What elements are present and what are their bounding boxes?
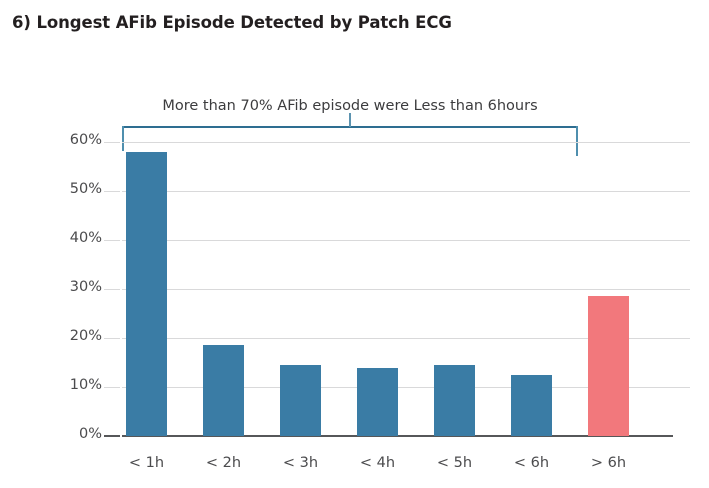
bar-6h[interactable] xyxy=(511,375,552,436)
bar-2h[interactable] xyxy=(203,345,244,436)
y-axis-tick-label: 10% xyxy=(46,377,102,393)
gridline xyxy=(122,240,690,241)
y-axis-tick-label: 0% xyxy=(46,426,102,442)
bracket-left-arm xyxy=(122,126,124,151)
y-axis-tick-label: 20% xyxy=(46,328,102,344)
y-axis-tick xyxy=(104,338,120,339)
bracket-center-tick xyxy=(349,113,351,127)
gridline xyxy=(122,191,690,192)
bar-6h[interactable] xyxy=(588,296,629,436)
annotation-label: More than 70% AFib episode were Less tha… xyxy=(122,98,578,114)
y-axis-tick xyxy=(104,435,120,437)
x-axis-tick-label: < 3h xyxy=(261,455,341,471)
x-axis-tick-label: < 4h xyxy=(338,455,418,471)
x-axis-tick-label: < 2h xyxy=(184,455,264,471)
bar-4h[interactable] xyxy=(357,368,398,436)
gridline xyxy=(122,289,690,290)
y-axis-tick xyxy=(104,387,120,388)
x-axis-tick-label: < 6h xyxy=(492,455,572,471)
bar-5h[interactable] xyxy=(434,365,475,436)
y-axis-tick-label: 30% xyxy=(46,279,102,295)
y-axis-tick xyxy=(104,289,120,290)
bar-3h[interactable] xyxy=(280,365,321,436)
x-axis-tick-label: < 1h xyxy=(107,455,187,471)
gridline xyxy=(122,142,690,143)
y-axis-tick-label: 60% xyxy=(46,132,102,148)
bracket-right-arm xyxy=(576,126,578,156)
x-axis-tick-label: < 5h xyxy=(415,455,495,471)
y-axis-tick-label: 50% xyxy=(46,181,102,197)
y-axis-tick-label: 40% xyxy=(46,230,102,246)
y-axis-tick xyxy=(104,240,120,241)
x-axis-tick-label: > 6h xyxy=(569,455,649,471)
y-axis-tick xyxy=(104,191,120,192)
bar-chart: More than 70% AFib episode were Less tha… xyxy=(0,0,709,488)
y-axis-tick xyxy=(104,142,120,143)
bar-1h[interactable] xyxy=(126,152,167,436)
